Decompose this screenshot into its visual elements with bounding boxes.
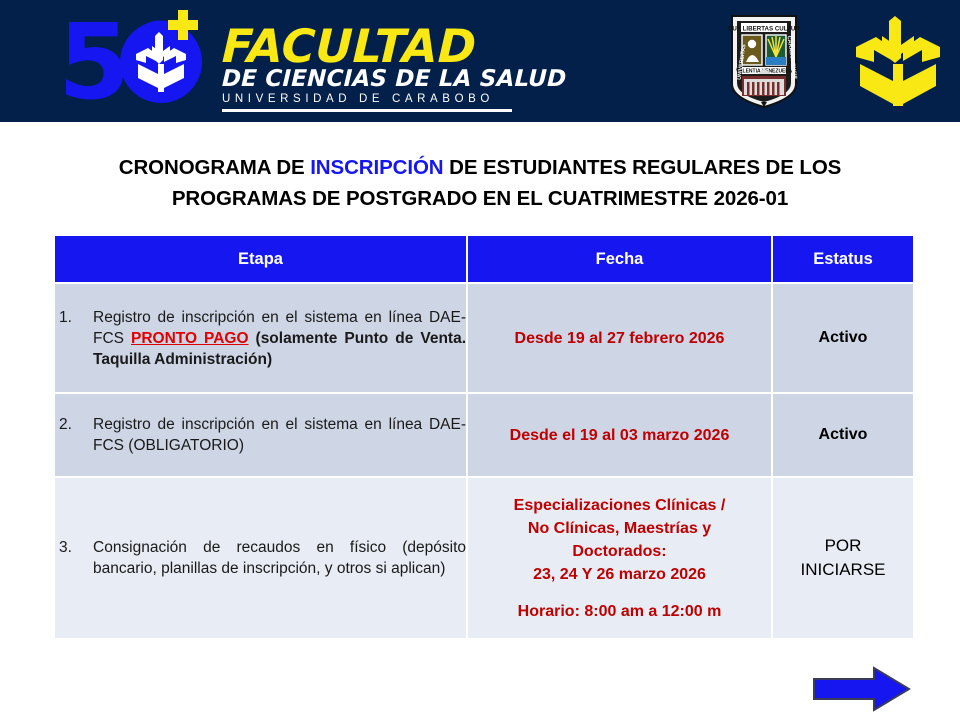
- estatus-3-line2: INICIARSE: [800, 560, 885, 579]
- faculty-emblem-icon: [132, 30, 190, 94]
- page-title-part1: CRONOGRAMA DE: [119, 156, 310, 179]
- arrow-right-icon[interactable]: [812, 666, 912, 712]
- table-row: 3. Consignación de recaudos en físico (d…: [55, 478, 913, 638]
- wordmark-rule: [222, 109, 512, 112]
- cell-fecha-3: Especializaciones Clínicas / No Clínicas…: [468, 478, 773, 638]
- schedule-table: Etapa Fecha Estatus 1. Registro de inscr…: [55, 236, 913, 638]
- wordmark-ciencias-salud: DE CIENCIAS DE LA SALUD: [222, 67, 567, 91]
- page-title-highlight: INSCRIPCIÓN: [310, 156, 443, 179]
- column-header-etapa: Etapa: [55, 236, 468, 284]
- row-number-2: 2.: [55, 414, 93, 435]
- faculty-brand-lockup: 50 FACULTAD DE CIENCIAS DE LA SALUD UNIV…: [58, 8, 566, 114]
- cell-estatus-3: POR INICIARSE: [773, 478, 913, 638]
- faculty-wordmark: FACULTAD DE CIENCIAS DE LA SALUD UNIVERS…: [222, 11, 566, 112]
- fecha-3-line3: Doctorados:: [572, 543, 666, 560]
- estatus-3-line1: POR: [825, 536, 862, 555]
- table-header-row: Etapa Fecha Estatus: [55, 236, 913, 284]
- row-number-3: 3.: [55, 537, 93, 558]
- cell-etapa-3: 3. Consignación de recaudos en físico (d…: [55, 478, 468, 638]
- fecha-3-line4: 23, 24 Y 26 marzo 2026: [533, 566, 706, 583]
- anniversary-50-logo: 50: [58, 8, 218, 114]
- column-header-estatus: Estatus: [773, 236, 913, 284]
- cell-etapa-2: 2. Registro de inscripción en el sistema…: [55, 394, 468, 478]
- fecha-3-line5: Horario: 8:00 am a 12:00 m: [518, 603, 722, 620]
- fecha-3-line2: No Clínicas, Maestrías y: [528, 520, 711, 537]
- cell-estatus-2: Activo: [773, 394, 913, 478]
- table-row: 2. Registro de inscripción en el sistema…: [55, 394, 913, 478]
- table-row: 1. Registro de inscripción en el sistema…: [55, 284, 913, 394]
- faculty-monogram-icon: [852, 14, 944, 108]
- etapa-text-2: Registro de inscripción en el sistema en…: [93, 414, 466, 456]
- cell-etapa-1: 1. Registro de inscripción en el sistema…: [55, 284, 468, 394]
- row-number-1: 1.: [55, 307, 93, 328]
- wordmark-universidad: UNIVERSIDAD DE CARABOBO: [222, 92, 566, 106]
- header-banner: 50 FACULTAD DE CIENCIAS DE LA SALUD UNIV…: [0, 0, 960, 122]
- etapa-emphasis-pronto-pago: PRONTO PAGO: [131, 330, 249, 347]
- wordmark-facultad: FACULTAD: [221, 25, 567, 67]
- cell-estatus-1: Activo: [773, 284, 913, 394]
- uc-shield-motto: DEUS LIBERTAS CULTURA: [728, 25, 800, 32]
- etapa-text-3: Consignación de recaudos en físico (depó…: [93, 537, 466, 579]
- cell-fecha-2: Desde el 19 al 03 marzo 2026: [468, 394, 773, 478]
- fecha-3-line1: Especializaciones Clínicas /: [514, 497, 726, 514]
- fecha-3-spacer: [468, 586, 771, 600]
- page-title: CRONOGRAMA DE INSCRIPCIÓN DE ESTUDIANTES…: [80, 152, 880, 214]
- cell-fecha-1: Desde 19 al 27 febrero 2026: [468, 284, 773, 394]
- uc-coat-of-arms-icon: DEUS LIBERTAS CULTURA VALENTIA VENEZUELA…: [728, 12, 800, 110]
- column-header-fecha: Fecha: [468, 236, 773, 284]
